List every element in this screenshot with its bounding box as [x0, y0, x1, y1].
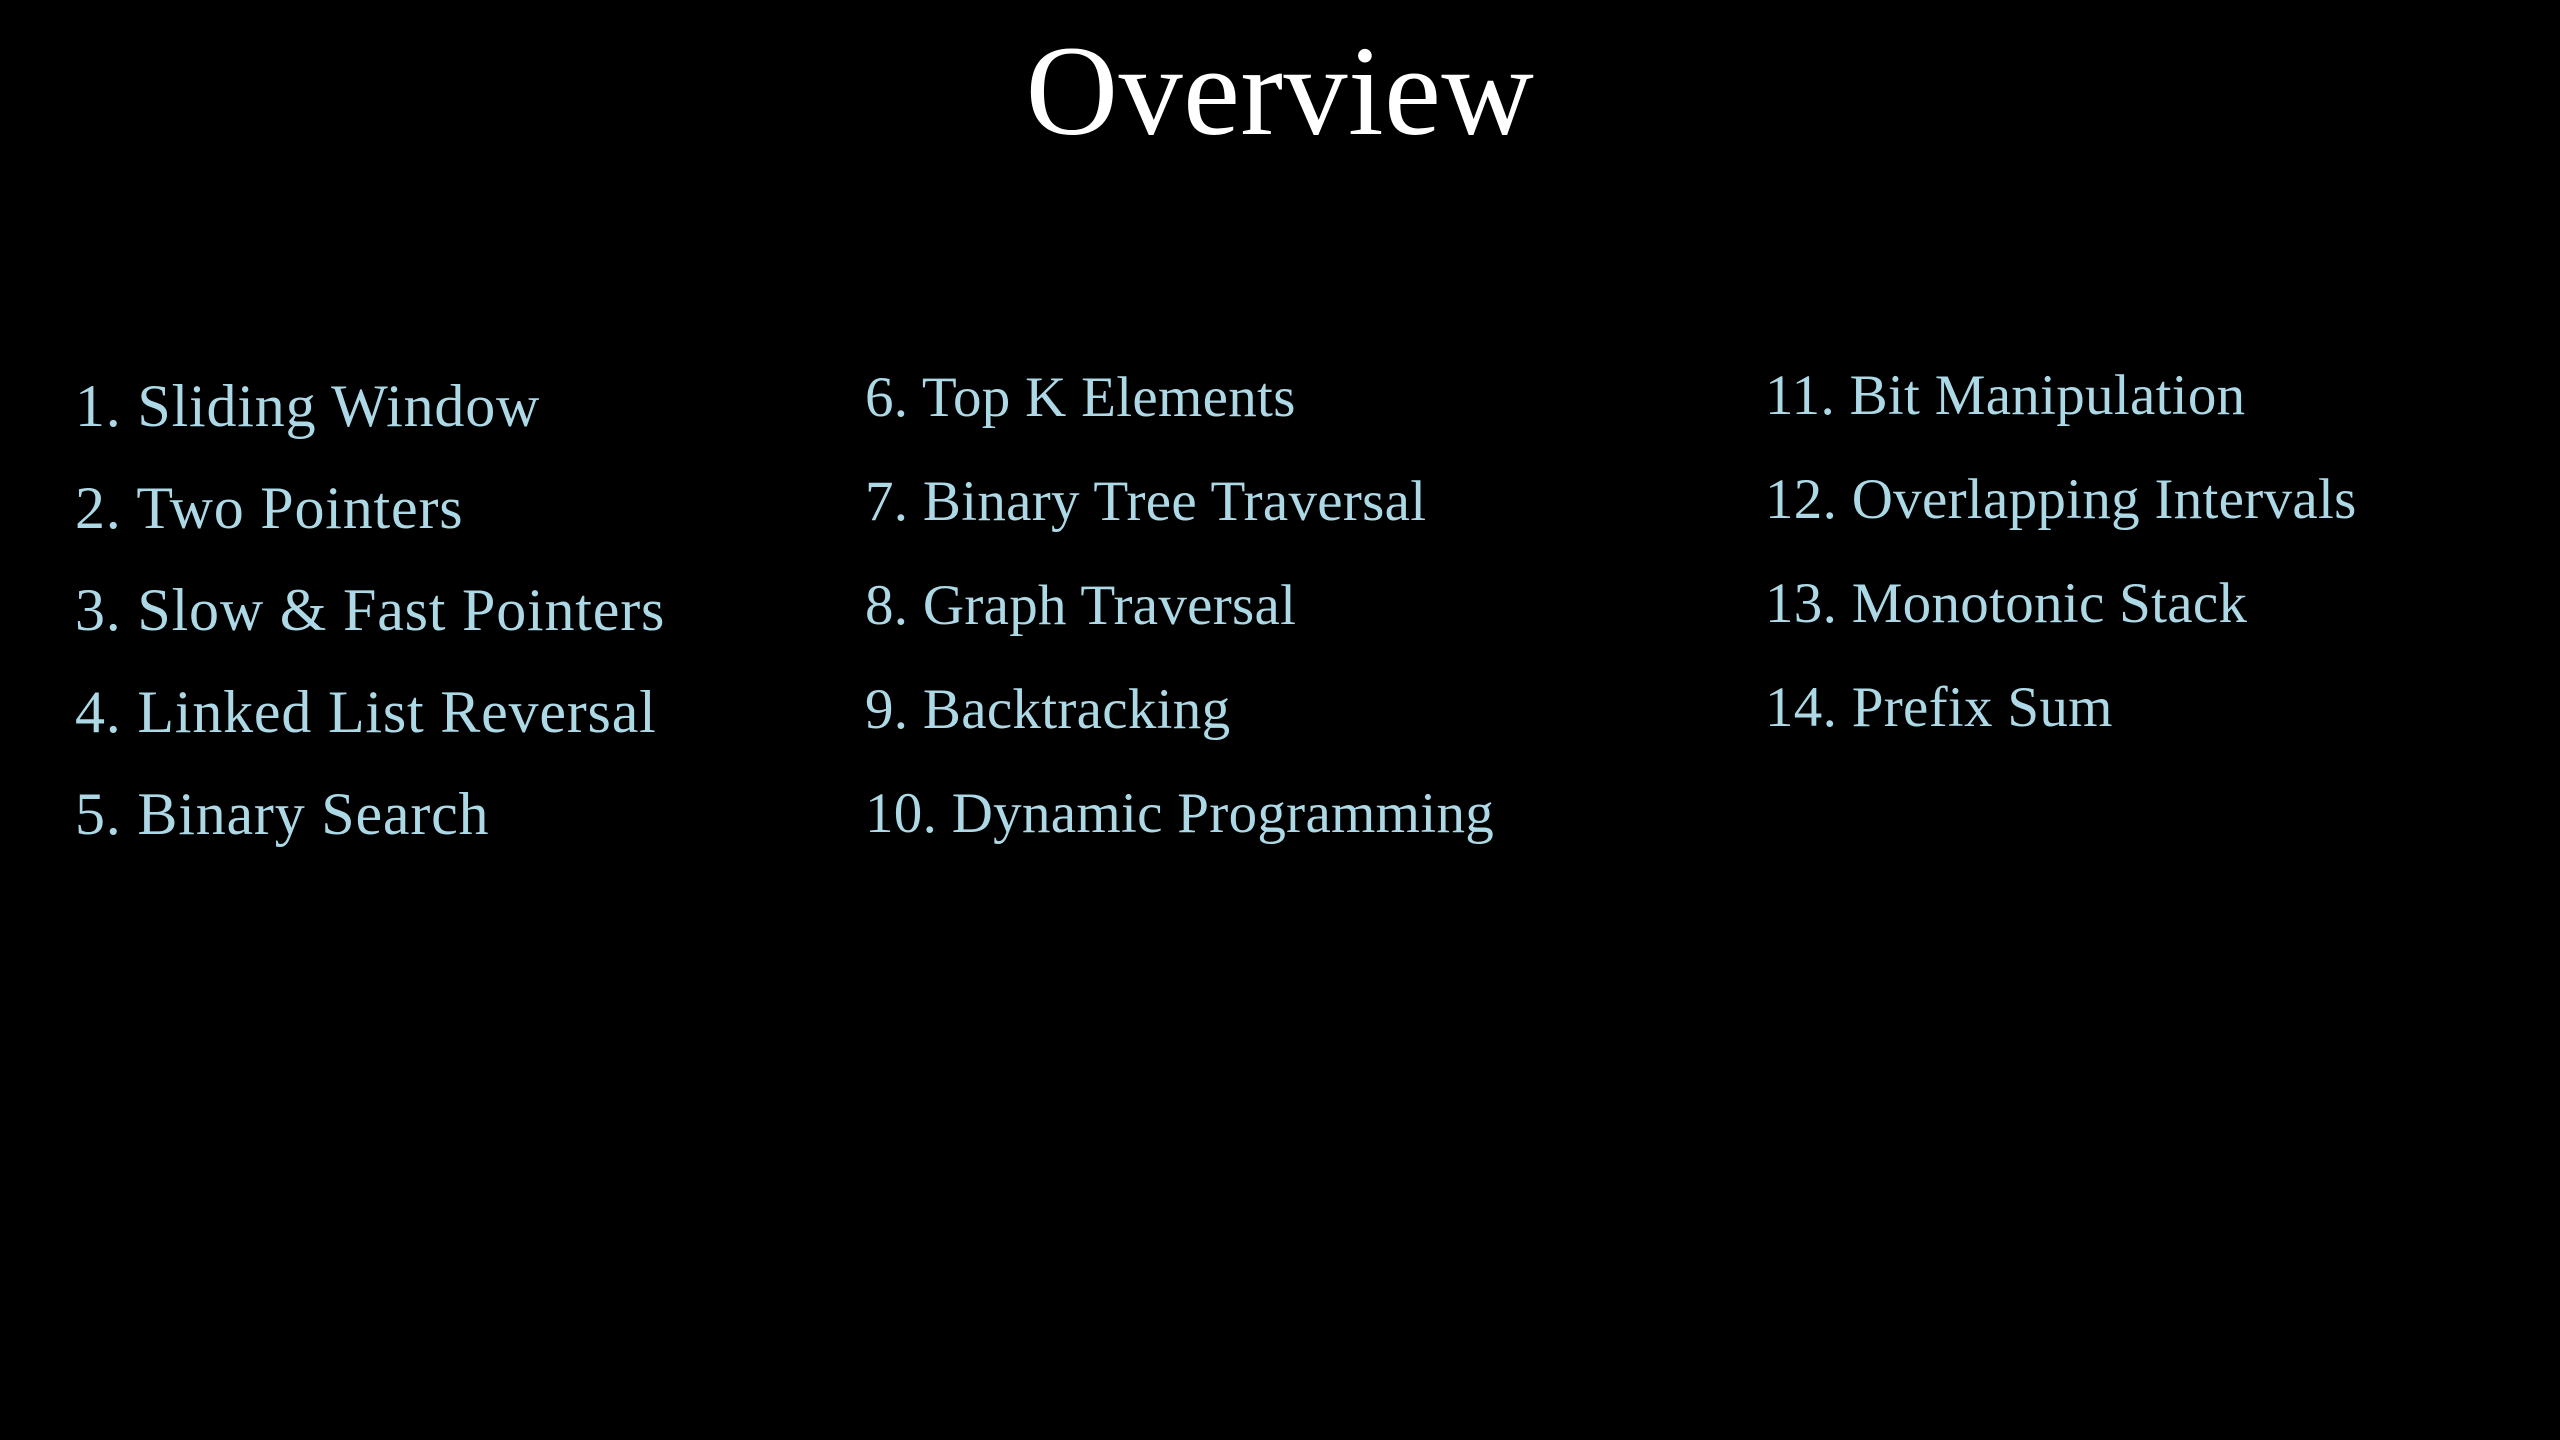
list-item[interactable]: 2. Two Pointers [75, 457, 855, 559]
list-item[interactable]: 5. Binary Search [75, 763, 855, 865]
list-item[interactable]: 10. Dynamic Programming [865, 762, 1705, 866]
list-item[interactable]: 13. Monotonic Stack [1765, 552, 2555, 656]
list-item[interactable]: 14. Prefix Sum [1765, 656, 2555, 760]
topic-columns: 1. Sliding Window 2. Two Pointers 3. Slo… [0, 0, 2560, 1440]
topic-column-2: 6. Top K Elements 7. Binary Tree Travers… [865, 346, 1705, 866]
list-item[interactable]: 1. Sliding Window [75, 355, 855, 457]
list-item[interactable]: 7. Binary Tree Traversal [865, 450, 1705, 554]
topic-column-1: 1. Sliding Window 2. Two Pointers 3. Slo… [75, 355, 855, 865]
list-item[interactable]: 11. Bit Manipulation [1765, 344, 2555, 448]
list-item[interactable]: 8. Graph Traversal [865, 554, 1705, 658]
list-item[interactable]: 9. Backtracking [865, 658, 1705, 762]
list-item[interactable]: 4. Linked List Reversal [75, 661, 855, 763]
topic-column-3: 11. Bit Manipulation 12. Overlapping Int… [1765, 344, 2555, 760]
presentation-slide: Overview 1. Sliding Window 2. Two Pointe… [0, 0, 2560, 1440]
list-item[interactable]: 6. Top K Elements [865, 346, 1705, 450]
list-item[interactable]: 3. Slow & Fast Pointers [75, 559, 855, 661]
list-item[interactable]: 12. Overlapping Intervals [1765, 448, 2555, 552]
